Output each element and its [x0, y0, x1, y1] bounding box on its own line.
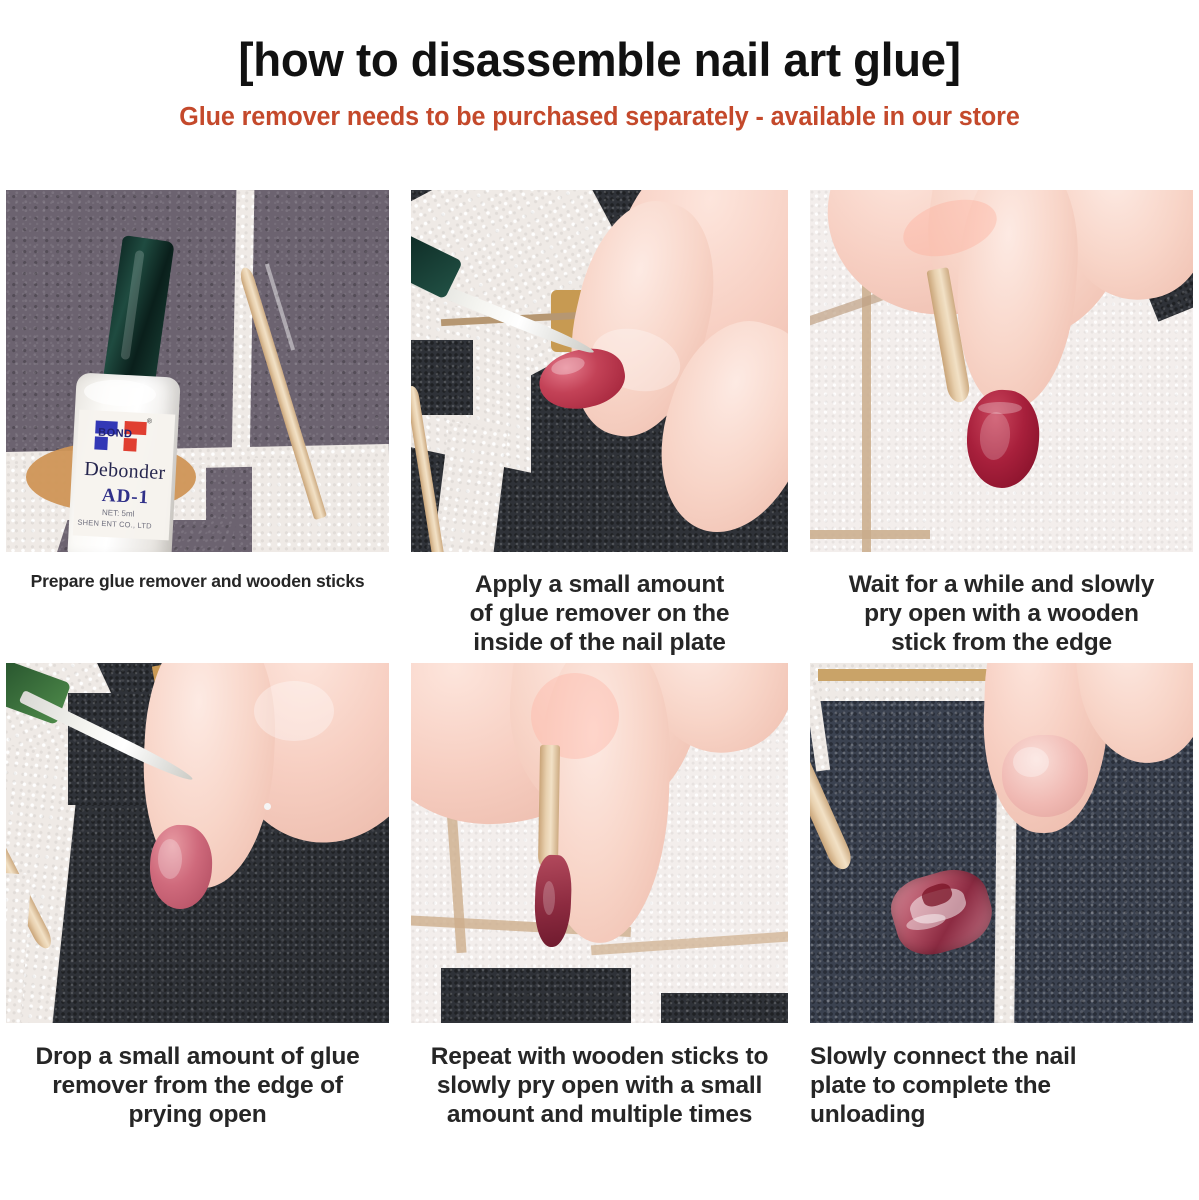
bottle-net-text: NET: 5ml: [102, 508, 135, 519]
bottle-brand-text: BOND: [98, 427, 133, 441]
step-cell-6: Slowly connect the nail plate to complet…: [810, 663, 1193, 1130]
bottle-model-text: AD-1: [101, 485, 149, 509]
steps-grid-row-2: Drop a small amount of glue remover from…: [0, 663, 1199, 1130]
header: [how to disassemble nail art glue] Glue …: [0, 0, 1199, 132]
step-caption-5: Repeat with wooden sticks to slowly pry …: [411, 1043, 788, 1130]
step-caption-1: Prepare glue remover and wooden sticks: [6, 571, 389, 592]
step-caption-6: Slowly connect the nail plate to complet…: [810, 1043, 1193, 1130]
photo-step-4-dropping-remover-at-edge: [6, 663, 389, 1023]
photo-step-5-repeat-prying: [411, 663, 788, 1023]
step-caption-4: Drop a small amount of glue remover from…: [6, 1043, 389, 1130]
wooden-stick-icon: [538, 745, 560, 870]
page-subtitle: Glue remover needs to be purchased separ…: [9, 103, 1190, 132]
step-cell-4: Drop a small amount of glue remover from…: [6, 663, 389, 1130]
step-caption-2: Apply a small amount of glue remover on …: [411, 571, 788, 658]
step-cell-2: Apply a small amount of glue remover on …: [411, 190, 788, 658]
photo-step-2-applying-glue-remover: [411, 190, 788, 552]
photo-step-3-prying-with-wooden-stick: [810, 190, 1193, 552]
page-title: [how to disassemble nail art glue]: [18, 34, 1181, 86]
photo-step-1-glue-remover-bottle-and-sticks: BOND ® Debonder AD-1 NET: 5ml SHEN ENT C…: [6, 190, 389, 552]
step-caption-3: Wait for a while and slowly pry open wit…: [810, 571, 1193, 658]
bottle-product-name: Debonder: [84, 458, 166, 485]
steps-grid-row-1: BOND ® Debonder AD-1 NET: 5ml SHEN ENT C…: [0, 190, 1199, 658]
step-cell-1: BOND ® Debonder AD-1 NET: 5ml SHEN ENT C…: [6, 190, 389, 658]
photo-step-6-nail-plate-removed: [810, 663, 1193, 1023]
step-cell-3: Wait for a while and slowly pry open wit…: [810, 190, 1193, 658]
bottle-company-text: SHEN ENT CO., LTD: [77, 518, 152, 531]
step-cell-5: Repeat with wooden sticks to slowly pry …: [411, 663, 788, 1130]
